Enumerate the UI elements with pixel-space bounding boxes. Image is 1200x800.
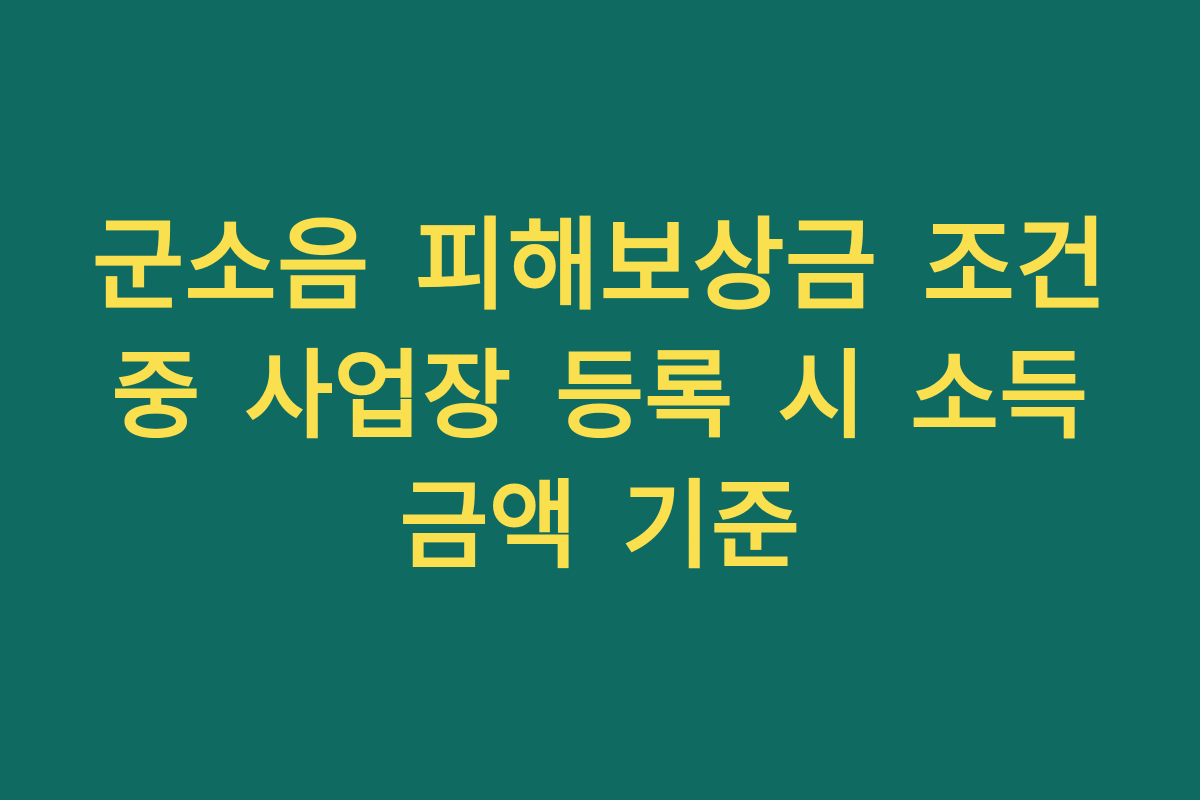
title-line-3: 금액 기준 [400,461,800,591]
title-card-canvas: 군소음 피해보상금 조건 중 사업장 등록 시 소득 금액 기준 [0,0,1200,800]
title-line-1: 군소음 피해보상금 조건 [92,201,1108,331]
title-line-2: 중 사업장 등록 시 소득 [112,331,1089,461]
title-text-block: 군소음 피해보상금 조건 중 사업장 등록 시 소득 금액 기준 [50,201,1150,591]
